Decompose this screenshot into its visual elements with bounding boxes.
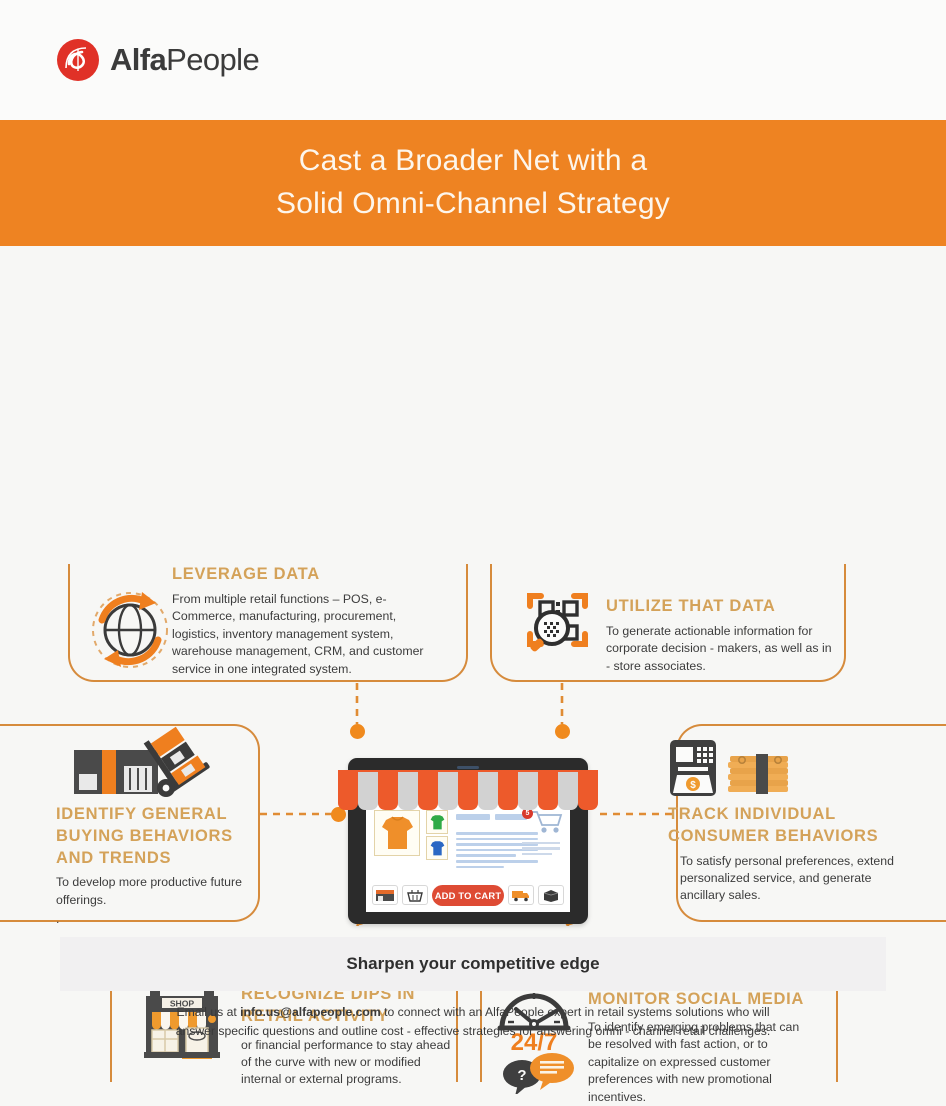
title-banner: Cast a Broader Net with a Solid Omni-Cha… xyxy=(0,120,946,246)
block-heading: LEVERAGE DATA xyxy=(172,564,440,586)
svg-text:?: ? xyxy=(517,1067,526,1084)
connector-dot-top-right xyxy=(555,724,570,739)
product-thumbnail-blue[interactable] xyxy=(426,836,448,860)
svg-text:$: $ xyxy=(690,780,696,791)
store-awning xyxy=(338,772,598,810)
clock-24-7-icon: 24/7 ? xyxy=(496,984,578,1099)
add-to-cart-button[interactable]: ADD TO CART xyxy=(432,885,504,906)
product-thumbnail-green[interactable] xyxy=(426,810,448,834)
store-icon[interactable] xyxy=(372,885,398,905)
block-body: To generate actionable information for c… xyxy=(606,623,838,675)
block-body: To satisfy personal preferences, extend … xyxy=(680,853,898,905)
footer-email-link[interactable]: info.us@alfapeople.com xyxy=(240,1005,381,1019)
block-heading: UTILIZE THAT DATA xyxy=(606,596,838,618)
block-body: or financial performance to stay ahead o… xyxy=(241,1037,461,1089)
block-body: To develop more productive future offeri… xyxy=(56,874,266,909)
qr-magnifier-icon xyxy=(518,584,596,667)
package-box-icon[interactable] xyxy=(538,885,564,905)
brand-name-bold: Alfa xyxy=(110,42,166,77)
block-track-individual-consumer-behaviors: TRACK INDIVIDUAL CONSUMER BEHAVIORS To s… xyxy=(668,804,898,905)
alfapeople-logo-icon xyxy=(56,38,100,82)
connector-dot-top-left xyxy=(350,724,365,739)
footer-band-title: Sharpen your competitive edge xyxy=(346,954,599,974)
infographic-canvas: LEVERAGE DATA From multiple retail funct… xyxy=(0,246,946,926)
cart-preview[interactable]: 5 xyxy=(522,808,564,855)
warehouse-handtruck-icon xyxy=(66,724,210,807)
footer-text-before: Email us at xyxy=(176,1005,240,1019)
product-main-image[interactable] xyxy=(374,810,420,856)
block-heading: TRACK INDIVIDUAL CONSUMER BEHAVIORS xyxy=(668,804,898,848)
block-heading: IDENTIFY GENERAL BUYING BEHAVIORS AND TR… xyxy=(56,804,266,869)
tablet-device[interactable]: 5 xyxy=(348,758,588,924)
block-identify-general-buying-behaviors: IDENTIFY GENERAL BUYING BEHAVIORS AND TR… xyxy=(56,804,266,929)
brand-name-light: People xyxy=(166,42,259,77)
footer-contact-text: Email us at info.us@alfapeople.com to co… xyxy=(0,1003,946,1040)
page-header: AlfaPeople xyxy=(0,0,946,120)
globe-refresh-icon xyxy=(86,586,174,679)
atm-cash-icon: $ xyxy=(668,738,794,805)
footer-band: Sharpen your competitive edge xyxy=(60,937,886,991)
brand-logo[interactable]: AlfaPeople xyxy=(56,38,259,82)
basket-icon[interactable] xyxy=(402,885,428,905)
delivery-truck-icon[interactable] xyxy=(508,885,534,905)
block-body: From multiple retail functions – POS, e-… xyxy=(172,591,440,678)
block-leverage-data: LEVERAGE DATA From multiple retail funct… xyxy=(172,564,440,678)
tablet-action-row: ADD TO CART xyxy=(372,884,564,906)
block-trailing-mark: . xyxy=(56,911,266,928)
banner-line-2: Solid Omni-Channel Strategy xyxy=(276,183,670,226)
banner-line-1: Cast a Broader Net with a xyxy=(299,140,648,183)
block-utilize-that-data: UTILIZE THAT DATA To generate actionable… xyxy=(606,596,838,675)
tablet-camera-icon xyxy=(457,766,479,769)
brand-wordmark: AlfaPeople xyxy=(110,42,259,78)
